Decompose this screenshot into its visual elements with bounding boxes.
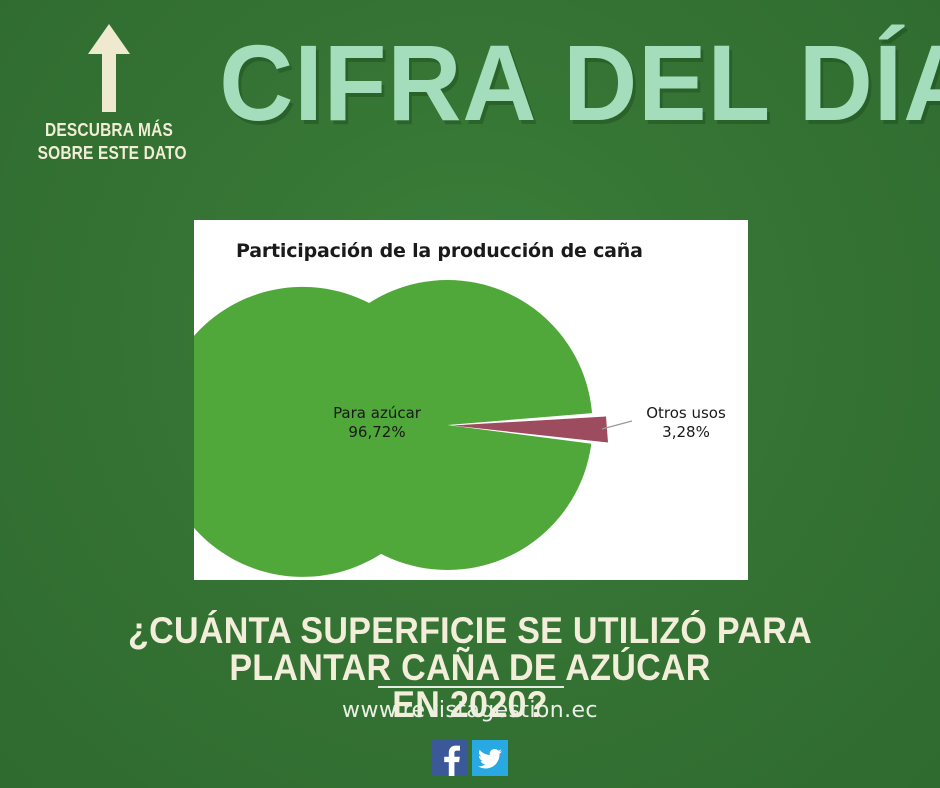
divider-rule bbox=[378, 686, 564, 688]
arrow-up-icon bbox=[26, 22, 192, 118]
discover-more-callout: DESCUBRA MÁS SOBRE ESTE DATO bbox=[26, 22, 192, 164]
facebook-icon[interactable] bbox=[432, 740, 468, 776]
pie-label-otros-usos: Otros usos 3,28% bbox=[628, 404, 744, 442]
question-line-1: ¿CUÁNTA SUPERFICIE SE UTILIZÓ PARA PLANT… bbox=[65, 612, 875, 686]
pie-label-para-azucar-name: Para azúcar bbox=[333, 404, 421, 422]
pie-label-otros-usos-name: Otros usos bbox=[646, 404, 726, 422]
pie-label-para-azucar-value: 96,72% bbox=[348, 423, 405, 441]
pie-chart: Para azúcar 96,72% Otros usos 3,28% bbox=[194, 220, 748, 580]
twitter-icon[interactable] bbox=[472, 740, 508, 776]
chart-card: Participación de la producción de caña P… bbox=[194, 220, 748, 580]
cta-line-2: SOBRE ESTE DATO bbox=[38, 143, 181, 164]
cta-line-1: DESCUBRA MÁS bbox=[38, 120, 181, 141]
social-links bbox=[0, 740, 940, 776]
poster-canvas: DESCUBRA MÁS SOBRE ESTE DATO CIFRA DEL D… bbox=[0, 0, 940, 788]
page-title: CIFRA DEL DÍA bbox=[219, 30, 761, 136]
website-url[interactable]: www.revistagestion.ec bbox=[0, 698, 940, 723]
pie-label-otros-usos-value: 3,28% bbox=[662, 423, 710, 441]
pie-label-para-azucar: Para azúcar 96,72% bbox=[312, 404, 442, 442]
